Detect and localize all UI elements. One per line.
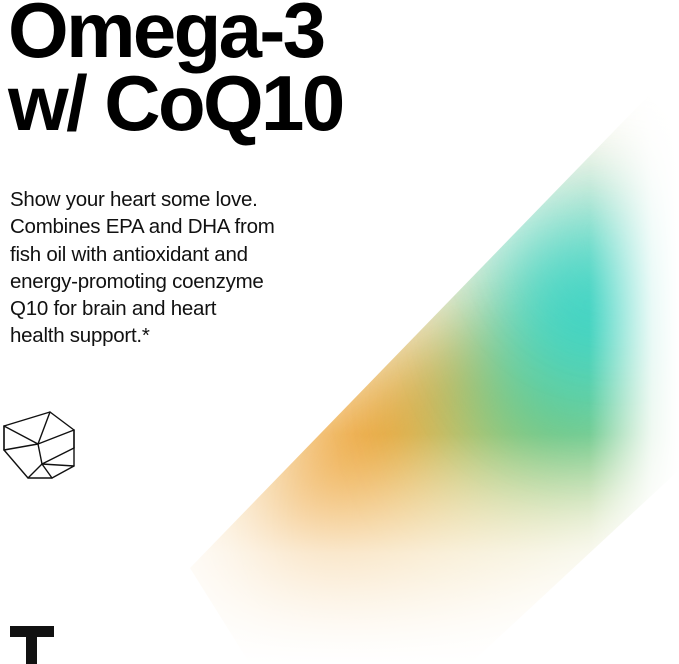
card-content: Omega-3 w/ CoQ10 Show your heart some lo… <box>0 0 679 664</box>
product-title: Omega-3 w/ CoQ10 <box>8 0 478 141</box>
brand-t-logo <box>10 626 54 664</box>
polyhedron-wireframe-icon <box>2 408 82 482</box>
product-card: Omega-3 w/ CoQ10 Show your heart some lo… <box>0 0 679 664</box>
product-description: Show your heart some love. Combines EPA … <box>10 186 340 350</box>
